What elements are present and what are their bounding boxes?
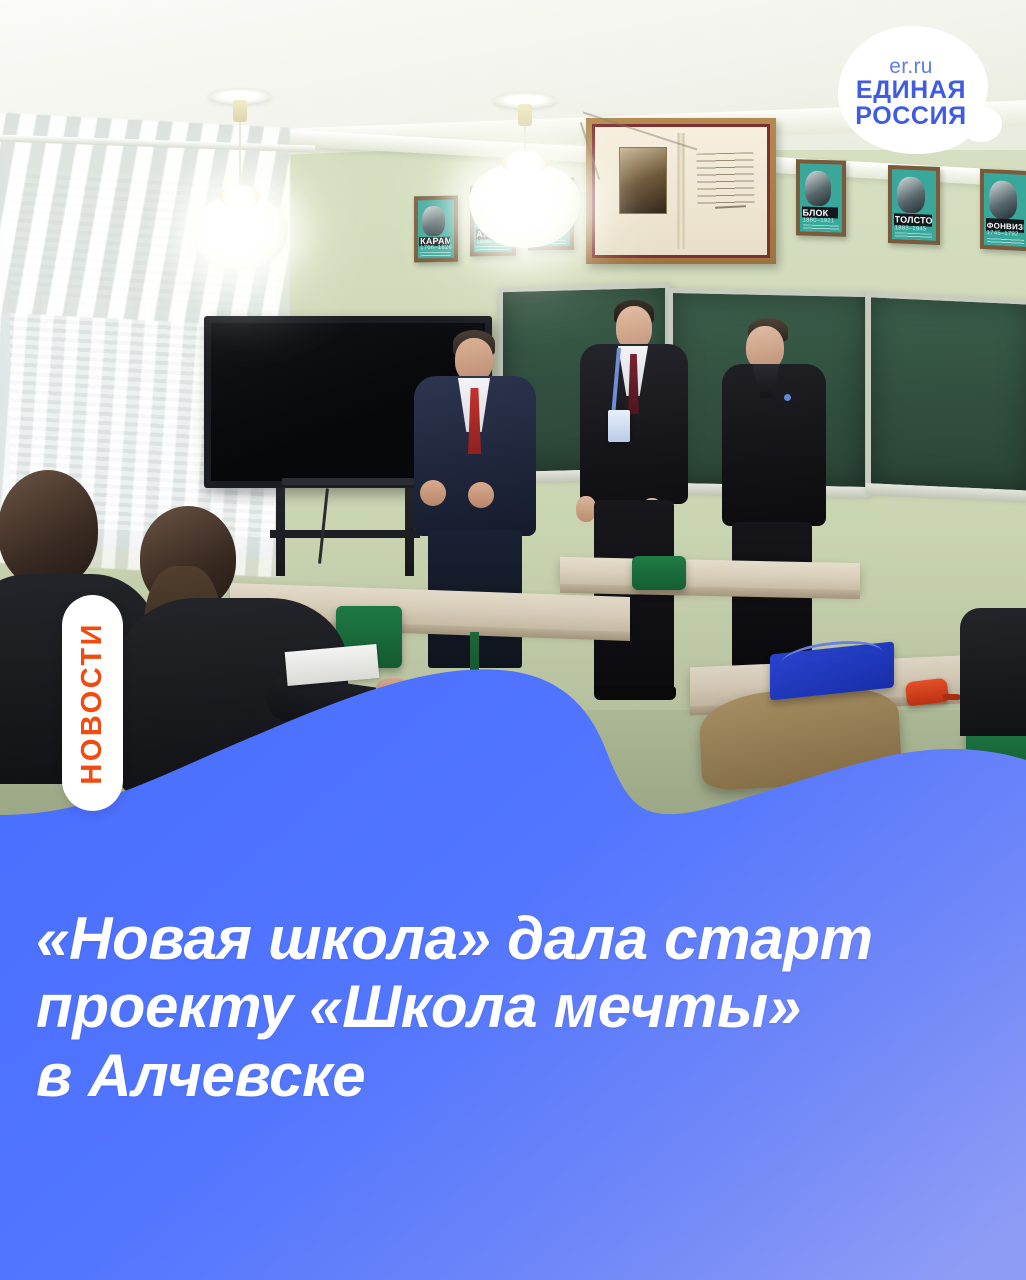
poster-body-text [420,252,451,257]
poster-face [422,206,444,237]
book-signature [715,206,746,210]
blackboard-right [866,292,1026,496]
page-title: «Новая школа» дала старт проекту «Школа … [36,905,966,1110]
poster-face [989,180,1016,219]
headline-line-1: «Новая школа» дала старт [36,905,966,973]
display-soundbar [282,478,414,485]
united-russia-logo[interactable]: er.ru ЕДИНАЯ РОССИЯ [826,24,1014,156]
news-badge-label: НОВОСТИ [78,622,107,785]
book-spine [678,133,685,249]
lamp-globe [192,196,288,270]
student-head [0,470,98,588]
poster-years: 1766–1826 [420,245,452,252]
poster-face [897,176,924,213]
poster-body-text [803,225,839,231]
poster-tolstoy: ТОЛСТОЙ 1883–1945 [888,165,940,245]
poster-karamzin: КАРАМЗИН 1766–1826 [414,196,458,263]
desk-back-row [560,557,860,591]
poster-years: 1745–1792 [987,230,1019,238]
pushkin-portrait [619,147,667,214]
poster-body-text [987,238,1025,246]
logo-site-label: er.ru [889,55,933,78]
presenter-lapel-pin [784,394,791,401]
headline-line-2: проекту «Школа мечты» [36,973,966,1041]
poster-body-text [895,232,933,239]
logo-line-two: РОССИЯ [855,104,966,130]
lanyard-badge [608,410,630,442]
pushkin-book-panel [586,118,776,264]
poster-fonvizin: ФОНВИЗИН 1745–1792 [980,169,1026,252]
logo-text-block: er.ru ЕДИНАЯ РОССИЯ [826,24,1014,156]
poster-blok: БЛОК 1880–1921 [796,159,846,236]
news-card: КАРАМЗИН 1766–1826 АХМАТОВА 1889–1966 ЖУ… [0,0,1026,1280]
headline-line-3: в Алчевске [36,1042,966,1110]
lamp-globe [469,162,581,248]
lamp-socket [233,100,247,122]
book-verse-lines [696,152,754,207]
poster-years: 1883–1945 [895,225,927,232]
logo-line-one: ЕДИНАЯ [856,78,966,104]
chair-green [632,556,686,590]
poster-body-text [476,246,509,252]
presenter-hand-left [576,496,596,522]
presenter-jacket [722,364,826,526]
presenter-hand-left [420,480,446,506]
presenter-hand-right [468,482,494,508]
poster-years: 1880–1921 [803,217,835,224]
poster-face [805,170,831,206]
news-badge[interactable]: НОВОСТИ [62,595,123,811]
lamp-socket [518,104,532,126]
